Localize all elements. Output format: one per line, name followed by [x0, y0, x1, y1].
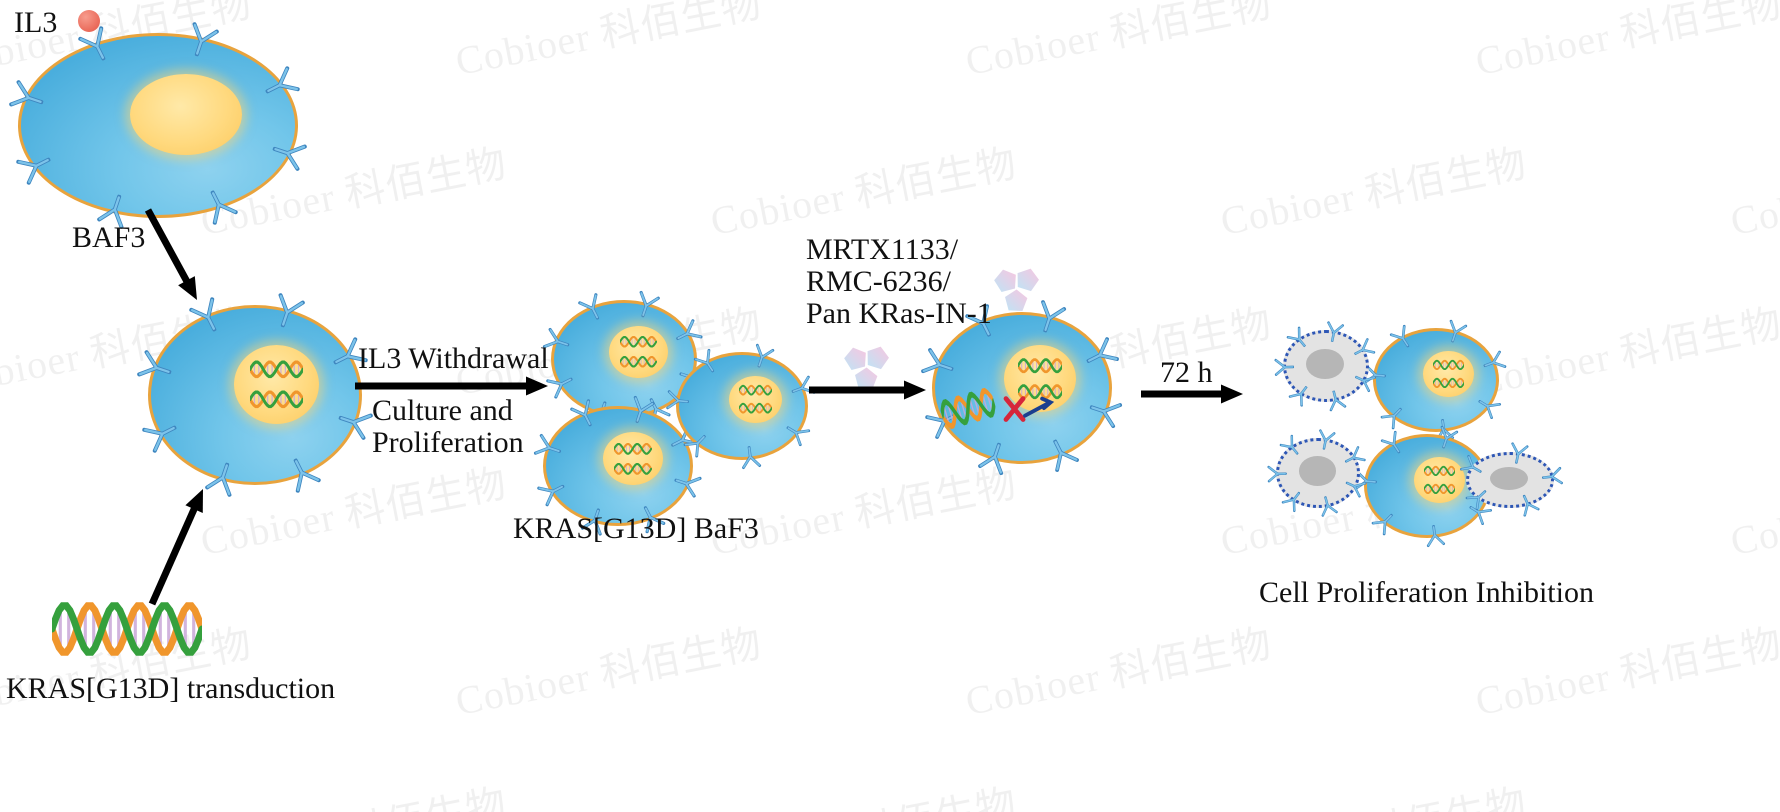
nuclear-dna-icon: [620, 335, 656, 348]
label-transduction: KRAS[G13D] transduction: [6, 670, 335, 708]
watermark-text: Cobioer 科佰生物: [450, 0, 766, 87]
cell-proliferating: [543, 406, 693, 526]
cell-nucleus: [603, 432, 663, 485]
cell-parental: [18, 33, 298, 218]
label-il3: IL3: [14, 4, 57, 42]
label-step1-bot-2: Proliferation: [372, 424, 524, 462]
il3-receptor-icon: [1422, 524, 1449, 551]
inhibition-x-icon: [991, 391, 1067, 429]
nuclear-dna-icon: [1018, 357, 1063, 374]
watermark-text: Cobioer 科佰生物: [1215, 771, 1531, 812]
watermark-text: Cobioer 科佰生物: [195, 771, 511, 812]
dying-cell: [1276, 438, 1360, 508]
cell-nucleus: [1423, 351, 1473, 397]
label-baf3: BAF3: [72, 219, 145, 257]
watermark-text: Cobioer 科佰生物: [960, 0, 1276, 87]
cell-inhibited: [932, 312, 1112, 464]
dying-cell-nucleus: [1299, 456, 1336, 485]
kras-inhibitor-molecule-icon: [988, 262, 1044, 318]
cell-transduced: [148, 305, 362, 485]
diagram-canvas: Cobioer 科佰生物Cobioer 科佰生物Cobioer 科佰生物Cobi…: [0, 0, 1780, 812]
arrow-baf3-to-transduced: [148, 210, 197, 300]
watermark-text: Cobioer 科佰生物: [1725, 771, 1780, 812]
watermark-text: Cobioer 科佰生物: [0, 131, 1, 247]
cell-nucleus: [609, 326, 667, 378]
nuclear-dna-icon: [1424, 465, 1455, 477]
watermark-text: Cobioer 科佰生物: [0, 451, 1, 567]
il3-receptor-icon: [1321, 318, 1347, 344]
arrow-dna-to-transduced: [152, 489, 203, 604]
il3-receptor-icon: [1272, 355, 1295, 378]
watermark-text: Cobioer 科佰生物: [705, 131, 1021, 247]
nuclear-dna-icon: [620, 355, 656, 368]
cell-nucleus: [729, 376, 782, 424]
cell-nucleus: [130, 74, 242, 155]
nuclear-dna-icon: [739, 384, 772, 396]
nuclear-dna-icon: [614, 462, 651, 476]
watermark-text: Cobioer 科佰生物: [1470, 291, 1780, 407]
nuclear-dna-icon: [250, 359, 303, 380]
cell-nucleus: [234, 345, 320, 424]
watermark-text: Cobioer 科佰生物: [1725, 131, 1780, 247]
il3-receptor-icon: [1265, 463, 1287, 485]
cell-proliferating: [676, 352, 808, 460]
watermark-text: Cobioer 科佰生物: [705, 771, 1021, 812]
il3-ligand-icon: [78, 10, 100, 32]
nuclear-dna-icon: [614, 442, 651, 456]
watermark-text: Cobioer 科佰生物: [1470, 0, 1780, 87]
watermark-text: Cobioer 科佰生物: [1725, 451, 1780, 567]
dying-cell-nucleus: [1306, 349, 1344, 379]
cell-proliferating: [1373, 328, 1499, 432]
il3-receptor-icon: [1505, 439, 1532, 466]
il3-receptor-icon: [736, 445, 764, 473]
nuclear-dna-icon: [1433, 359, 1464, 371]
watermark-text: Cobioer 科佰生物: [450, 611, 766, 727]
nuclear-dna-icon: [250, 389, 303, 410]
nuclear-dna-icon: [739, 402, 772, 414]
label-drug-3: Pan KRas-IN-1: [806, 295, 992, 333]
nuclear-dna-icon: [1433, 377, 1464, 389]
watermark-text: Cobioer 科佰生物: [960, 611, 1276, 727]
il3-receptor-icon: [1541, 464, 1566, 489]
il3-receptor-icon: [663, 387, 690, 414]
kras-inhibitor-molecule-icon: [838, 340, 894, 396]
label-cluster-caption: KRAS[G13D] BaF3: [513, 510, 759, 548]
nuclear-dna-icon: [1424, 483, 1455, 495]
label-timepoint: 72 h: [1160, 354, 1213, 392]
watermark-text: Cobioer 科佰生物: [0, 771, 1, 812]
label-step1-top: IL3 Withdrawal: [358, 340, 549, 378]
watermark-text: Cobioer 科佰生物: [1470, 611, 1780, 727]
plasmid-dna-icon: [52, 596, 202, 662]
watermark-text: Cobioer 科佰生物: [1215, 131, 1531, 247]
label-outcome: Cell Proliferation Inhibition: [1259, 574, 1594, 612]
dying-cell: [1466, 452, 1554, 508]
cell-nucleus: [1414, 457, 1464, 503]
dying-cell: [1283, 330, 1369, 402]
